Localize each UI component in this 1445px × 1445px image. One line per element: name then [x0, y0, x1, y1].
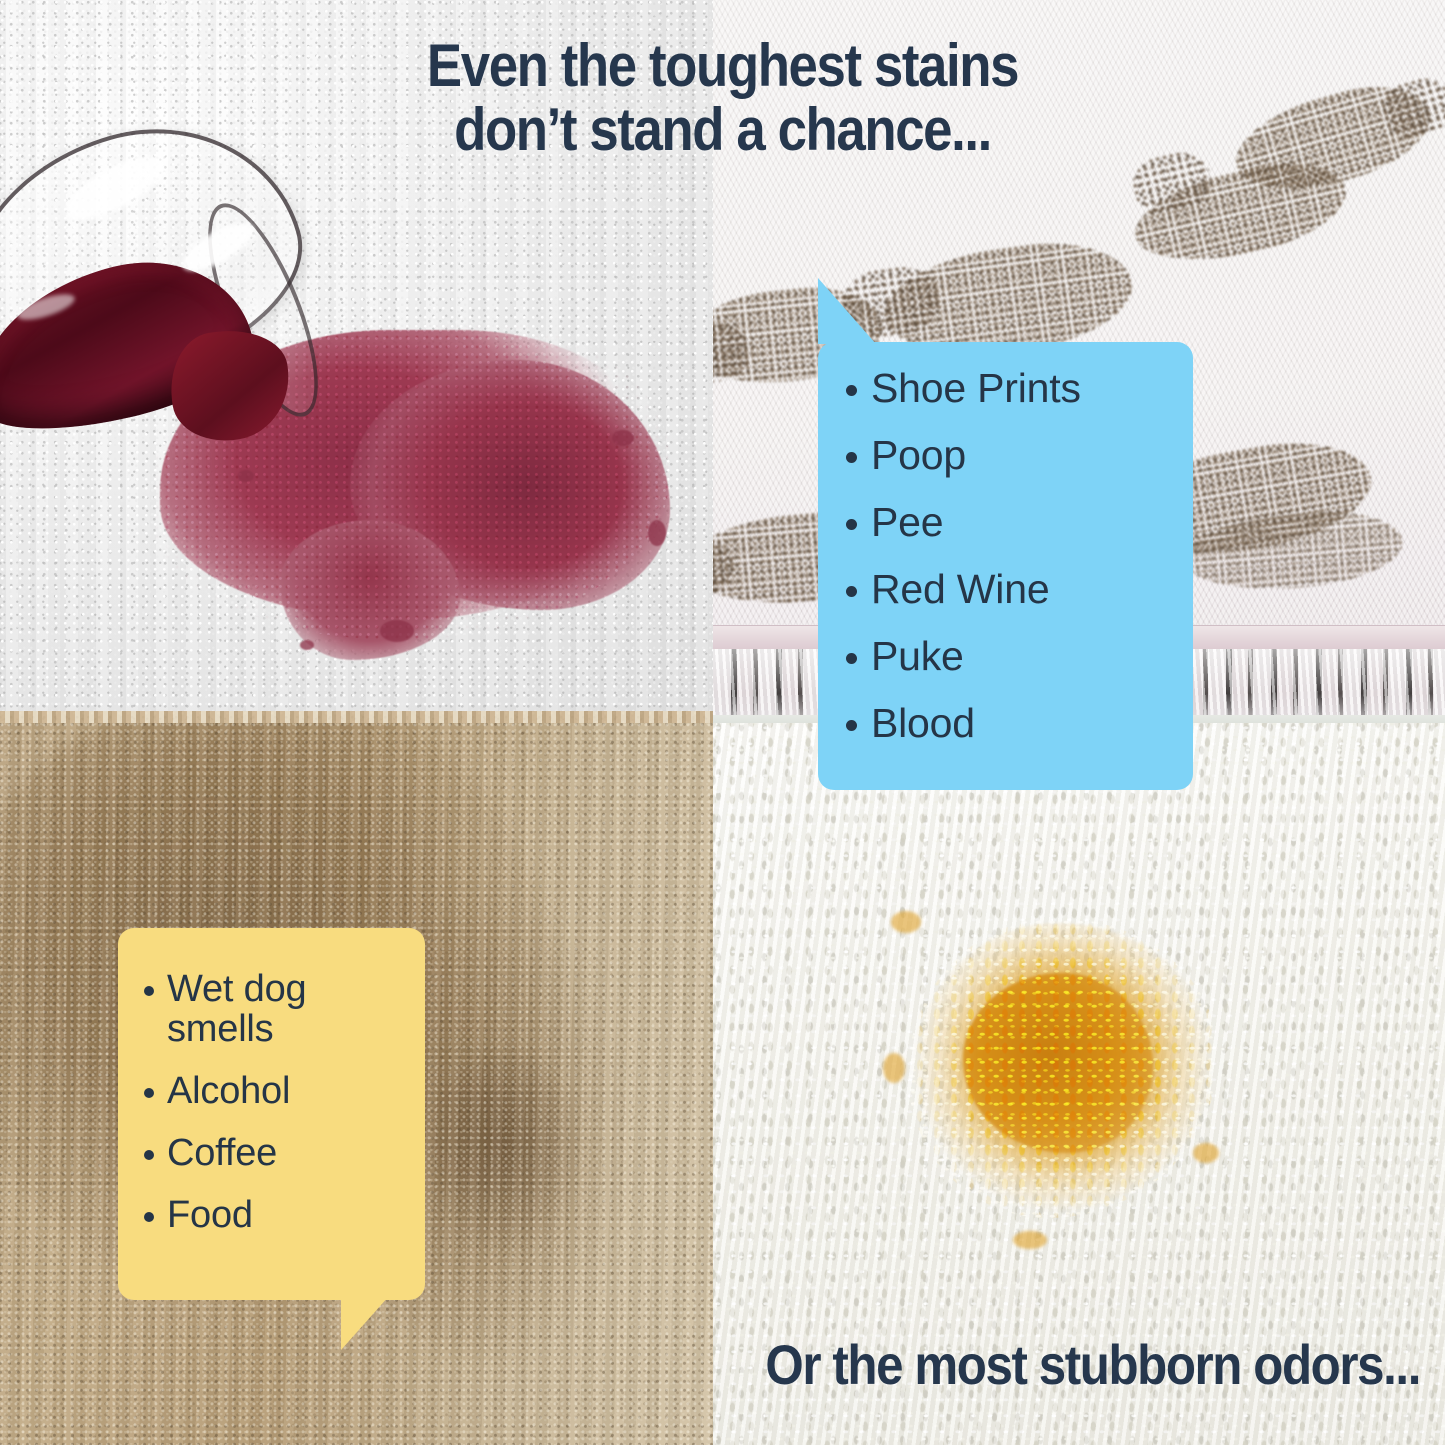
bullet-icon: [846, 385, 857, 396]
bullet-icon: [846, 519, 857, 530]
wine-speck: [648, 520, 666, 546]
food-fleck: [1193, 1143, 1219, 1163]
list-item: Food: [144, 1196, 411, 1236]
wine-speck: [612, 430, 634, 446]
bullet-icon: [144, 986, 154, 996]
shoe-print: [1133, 150, 1373, 280]
list-item: Alcohol: [144, 1072, 411, 1112]
bullet-icon: [144, 1212, 154, 1222]
headline-bottom: Or the most stubborn odors...: [170, 1336, 1420, 1395]
list-item: Coffee: [144, 1134, 411, 1174]
list-item-label: Red Wine: [871, 569, 1049, 610]
headline-top-line2: don’t stand a chance...: [87, 98, 1359, 162]
odors-list-bubble: Wet dog smells Alcohol Coffee Food: [118, 928, 425, 1300]
list-item-label: Poop: [871, 435, 966, 476]
list-item: Poop: [846, 435, 1175, 476]
bullet-icon: [144, 1150, 154, 1160]
list-item-label: Blood: [871, 703, 975, 744]
food-fleck: [883, 1053, 905, 1083]
stains-list-bubble: Shoe Prints Poop Pee Red Wine Puke Blood: [818, 342, 1193, 790]
bullet-icon: [846, 586, 857, 597]
poster-canvas: Shoe Prints Poop Pee Red Wine Puke Blood: [0, 0, 1445, 1445]
rug-border-strip: [0, 711, 713, 723]
list-item: Pee: [846, 502, 1175, 543]
stains-list: Shoe Prints Poop Pee Red Wine Puke Blood: [818, 342, 1193, 744]
bubble-tail: [818, 278, 876, 344]
headline-top: Even the toughest stains don’t stand a c…: [87, 34, 1359, 161]
food-fleck: [891, 911, 921, 933]
bullet-icon: [846, 653, 857, 664]
list-item: Shoe Prints: [846, 368, 1175, 409]
list-item: Red Wine: [846, 569, 1175, 610]
headline-top-line1: Even the toughest stains: [87, 34, 1359, 98]
list-item: Blood: [846, 703, 1175, 744]
list-item: Puke: [846, 636, 1175, 677]
list-item-label: Shoe Prints: [871, 368, 1081, 409]
bullet-icon: [846, 720, 857, 731]
list-item: Wet dog smells: [144, 970, 411, 1050]
list-item-label: Coffee: [167, 1134, 277, 1174]
bullet-icon: [144, 1088, 154, 1098]
odors-list: Wet dog smells Alcohol Coffee Food: [118, 928, 425, 1235]
list-item-label: Wet dog smells: [167, 970, 411, 1050]
list-item-label: Alcohol: [167, 1072, 290, 1112]
list-item-label: Pee: [871, 502, 943, 543]
bullet-icon: [846, 452, 857, 463]
wine-speck: [238, 470, 254, 482]
wine-speck: [380, 620, 414, 642]
wine-speck: [300, 640, 314, 650]
food-fleck: [1013, 1231, 1047, 1249]
list-item-label: Puke: [871, 636, 964, 677]
list-item-label: Food: [167, 1196, 253, 1236]
